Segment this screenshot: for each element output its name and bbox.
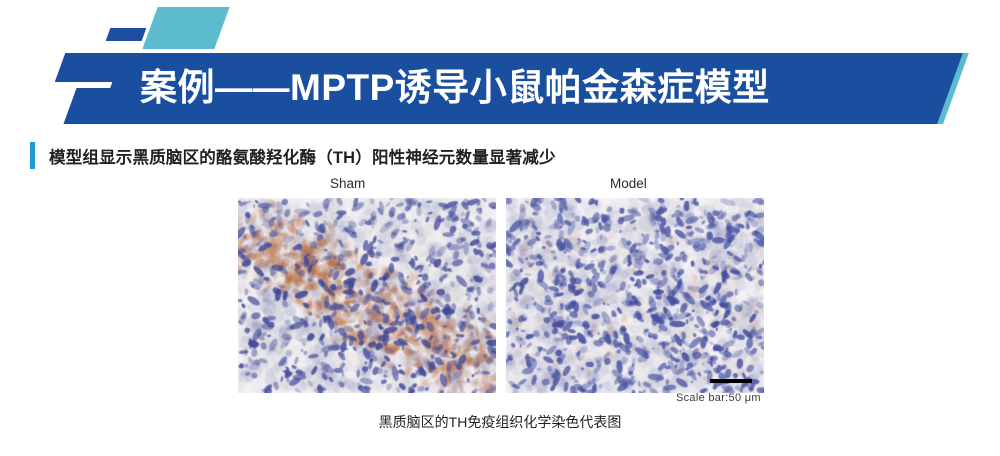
sham-micrograph	[238, 198, 496, 393]
scale-bar-caption: Scale bar:50 μm	[676, 392, 761, 404]
subtitle-row: 模型组显示黑质脑区的酪氨酸羟化酶（TH）阳性神经元数量显著减少	[30, 142, 556, 169]
figure-area: Sham Model Scale bar:50 μm	[238, 176, 764, 393]
page-title: 案例——MPTP诱导小鼠帕金森症模型	[140, 57, 940, 119]
subtitle-accent-bar	[30, 142, 35, 169]
subtitle-text: 模型组显示黑质脑区的酪氨酸羟化酶（TH）阳性神经元数量显著减少	[49, 144, 556, 168]
decorative-parallelogram-teal	[142, 7, 229, 49]
figure-caption: 黑质脑区的TH免疫组织化学染色代表图	[0, 412, 1000, 432]
sham-micrograph-canvas	[238, 198, 496, 393]
scale-bar-line	[710, 379, 752, 383]
panel-label-row: Sham Model	[238, 176, 764, 198]
decorative-parallelogram-small-blue	[106, 28, 147, 41]
model-micrograph	[506, 198, 764, 393]
micrograph-panels	[238, 198, 764, 393]
model-micrograph-canvas	[506, 198, 764, 393]
panel-label-sham: Sham	[330, 176, 365, 191]
header-banner: 案例——MPTP诱导小鼠帕金森症模型	[0, 0, 1000, 130]
panel-label-model: Model	[610, 176, 647, 191]
